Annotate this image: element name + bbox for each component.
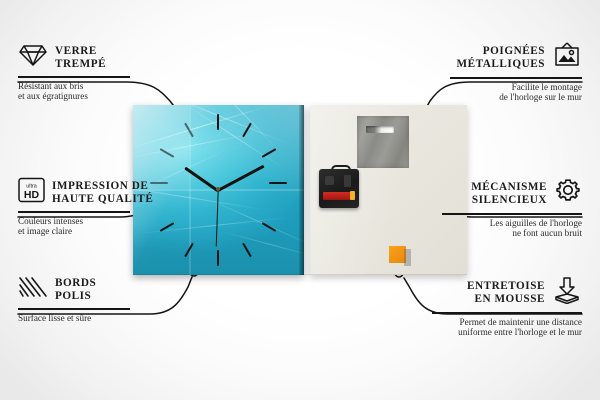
feature-divider (442, 213, 582, 215)
feature-title-line1: MÉCANISME (471, 181, 547, 194)
feature-desc-line1: Résistant aux bris (18, 81, 183, 92)
diamond-icon (18, 42, 48, 73)
feature-divider (18, 211, 130, 213)
feature-desc-line1: Facilite le montage (418, 82, 582, 93)
feature-entretoise-en-mousse: ENTRETOISE EN MOUSSE Permet de maintenir… (400, 276, 582, 338)
mechanism-housing (319, 169, 359, 208)
clock-edge-shadow (299, 105, 304, 275)
feature-title-line2: TREMPÉ (55, 58, 106, 71)
feature-poignees-metalliques: POIGNÉES MÉTALLIQUES Facilite le montage… (418, 42, 582, 103)
feature-divider (18, 76, 130, 78)
tick-mark (217, 114, 219, 130)
feature-bords-polis: BORDS POLIS Surface lisse et sûre (18, 274, 188, 323)
feature-desc-line2: de l'horloge sur le mur (418, 92, 582, 103)
feature-title-line2: HAUTE QUALITÉ (52, 193, 153, 206)
feature-divider (18, 308, 130, 310)
mechanism-detail-right (344, 175, 351, 187)
mechanism-detail-left (325, 176, 334, 185)
foam-spacer-shadow (404, 249, 411, 266)
metal-hanger-plate (357, 116, 409, 168)
feature-desc-line2: et aux égratignures (18, 91, 183, 102)
feature-title-line1: POIGNÉES (456, 45, 545, 58)
feature-title-line1: IMPRESSION DE (52, 180, 153, 193)
polished-edges-icon (18, 274, 48, 305)
feature-title-line2: EN MOUSSE (467, 293, 545, 306)
feature-verre-trempe: VERRE TREMPÉ Résistant aux bris et aux é… (18, 42, 183, 102)
gear-icon (554, 177, 582, 210)
feature-desc-line1: Permet de maintenir une distance (400, 317, 582, 328)
feature-title-line2: POLIS (55, 290, 96, 303)
clock-pivot (216, 187, 220, 191)
picture-frame-hanger-icon (552, 42, 582, 74)
feature-mecanisme-silencieux: MÉCANISME SILENCIEUX Les aiguilles de l'… (412, 177, 582, 239)
feature-desc-line1: Les aiguilles de l'horloge (412, 218, 582, 229)
tick-mark (217, 250, 219, 266)
feature-title-line1: VERRE (55, 45, 106, 58)
infographic-canvas: VERRE TREMPÉ Résistant aux bris et aux é… (0, 0, 600, 400)
feature-desc-line2: ne font aucun bruit (412, 228, 582, 239)
foam-spacer-press-icon (552, 276, 582, 309)
feature-title-line2: SILENCIEUX (471, 194, 547, 207)
feature-desc-line2: et image claire (18, 226, 188, 237)
feature-title-line1: BORDS (55, 277, 96, 290)
battery-positive-terminal (350, 191, 355, 200)
foam-spacer (389, 246, 406, 263)
tick-mark (269, 182, 287, 184)
clock-mechanism (319, 165, 359, 208)
feature-desc-line2: uniforme entre l'horloge et le mur (400, 327, 582, 338)
feature-desc-line1: Couleurs intenses (18, 216, 188, 227)
ultra-hd-icon-large-text: HD (24, 189, 40, 201)
feature-divider (450, 77, 582, 79)
feature-title-line2: MÉTALLIQUES (456, 58, 545, 71)
ultra-hd-icon: ultra HD (18, 177, 45, 208)
feature-title-line1: ENTRETOISE (467, 280, 545, 293)
feature-divider (432, 312, 582, 314)
hanger-slot (366, 126, 394, 133)
feature-impression-haute-qualite: ultra HD IMPRESSION DE HAUTE QUALITÉ Cou… (18, 177, 188, 237)
feature-desc-line1: Surface lisse et sûre (18, 313, 188, 324)
